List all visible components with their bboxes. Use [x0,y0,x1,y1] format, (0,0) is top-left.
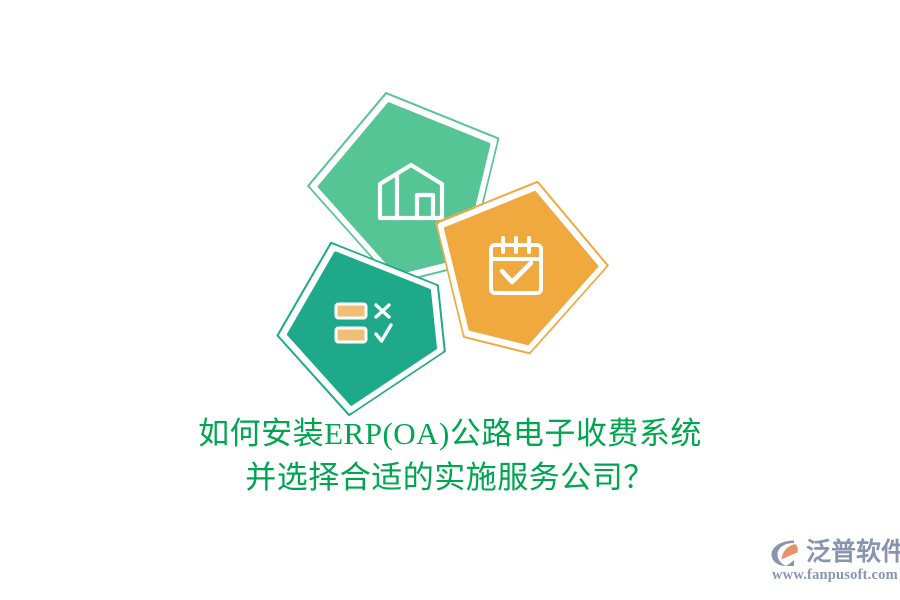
checklist-chip-1 [336,304,366,318]
brand-name: 泛普软件 [806,536,900,568]
checklist-chip-2 [336,328,366,342]
brand-logo: 泛普软件 www.fanpusoft.com [770,536,892,586]
logo-leaf-shape [782,544,798,560]
page-title: 如何安装ERP(OA)公路电子收费系统 并选择合适的实施服务公司？ [0,412,900,500]
pentagon-cluster-svg [0,0,900,430]
hero-graphic [0,0,900,430]
page-title-line-2: 并选择合适的实施服务公司？ [0,456,900,500]
fanpu-logo-mark-svg [770,538,804,568]
page-title-line-1: 如何安装ERP(OA)公路电子收费系统 [0,412,900,456]
fanpu-logo-icon [770,538,804,568]
brand-url: www.fanpusoft.com [772,566,898,584]
page-canvas: 如何安装ERP(OA)公路电子收费系统 并选择合适的实施服务公司？ 泛普软件 w… [0,0,900,600]
